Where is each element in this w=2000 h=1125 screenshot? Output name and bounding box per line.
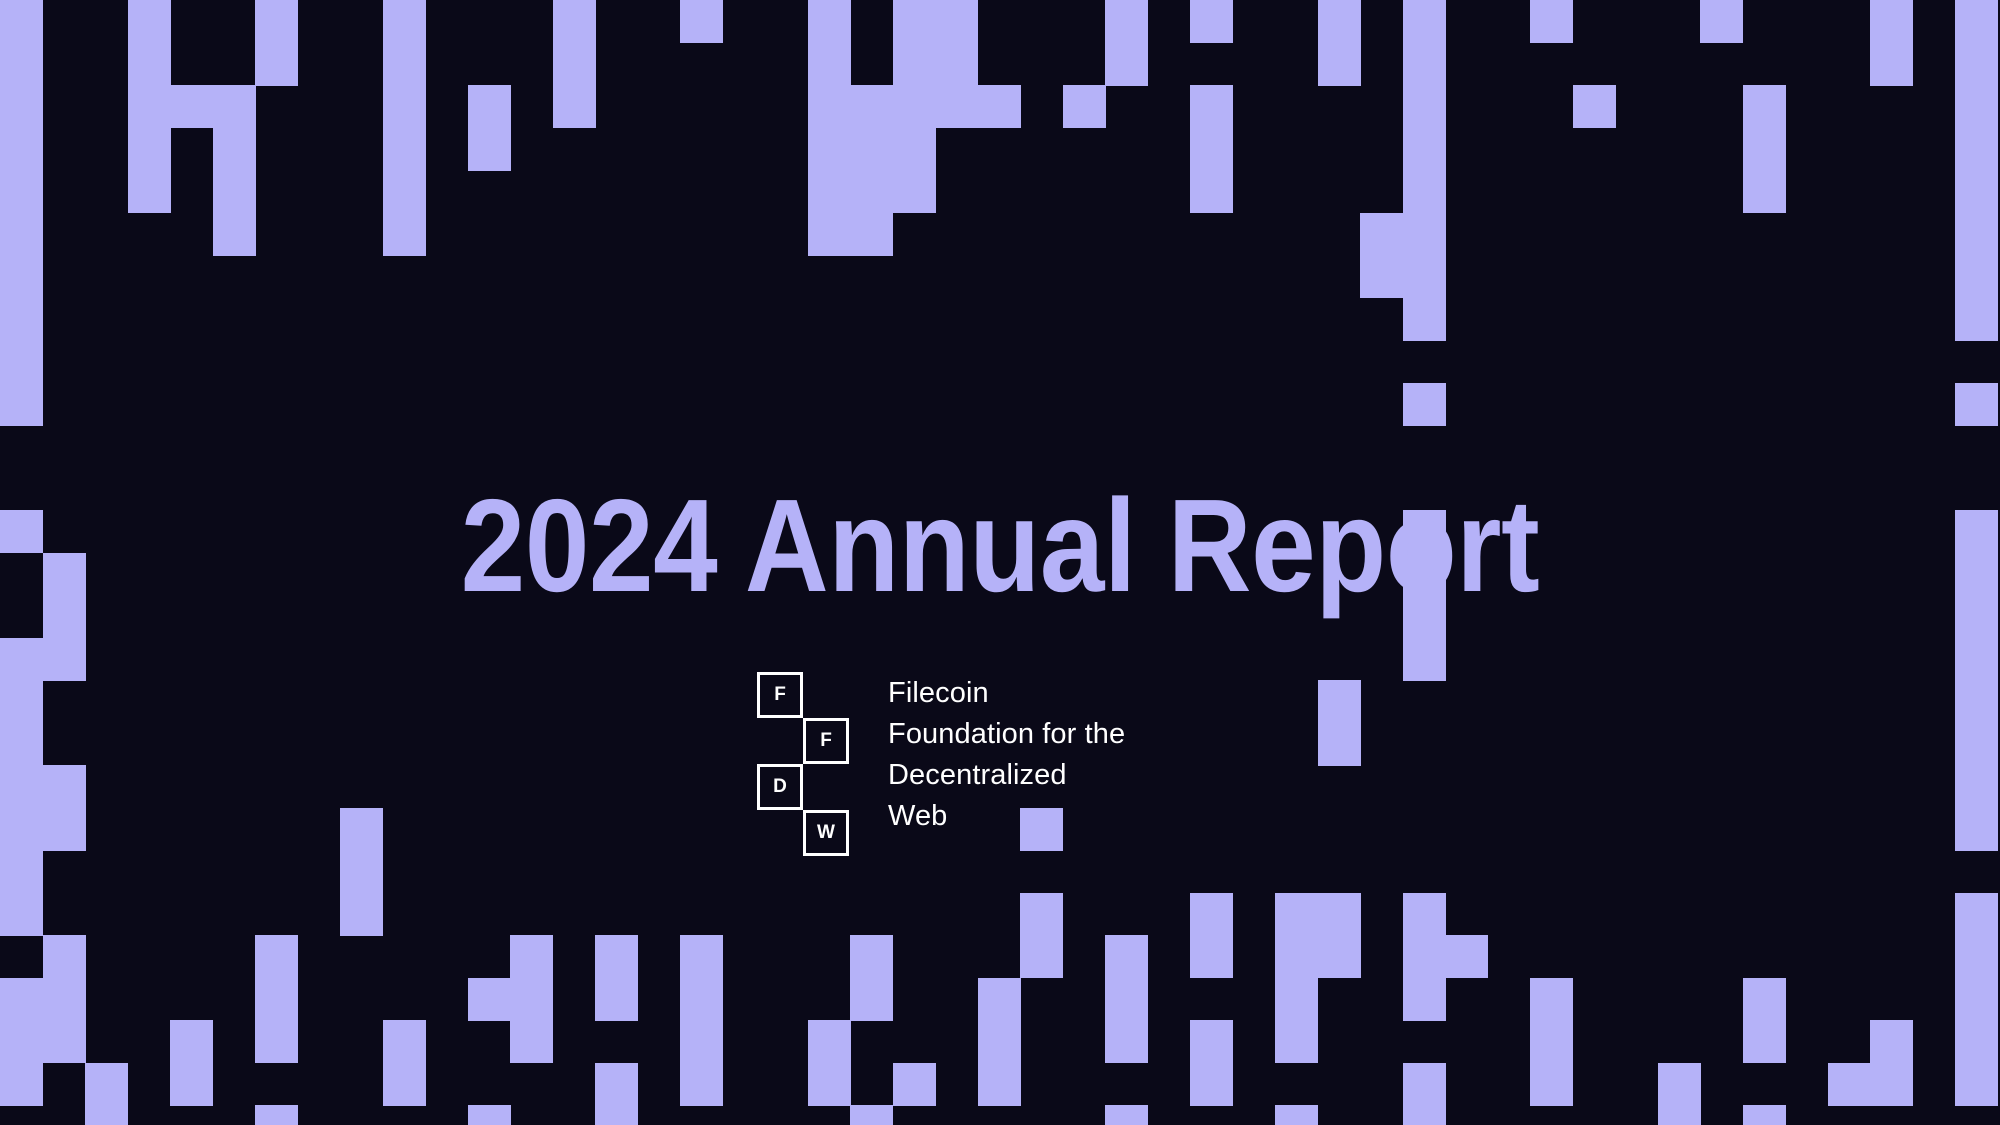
pixel-block (213, 170, 256, 213)
pixel-block (0, 383, 43, 426)
pixel-block (1105, 0, 1148, 43)
pixel-block (1955, 893, 1998, 979)
pixel-block (808, 1020, 851, 1106)
pixel-block (553, 0, 596, 43)
pixel-block (43, 638, 86, 681)
pixel-block (1870, 43, 1913, 86)
pixel-block (1445, 935, 1488, 978)
pixel-block (978, 978, 1021, 1021)
pixel-block (893, 128, 936, 171)
pixel-block (0, 893, 43, 936)
pixel-block (1190, 128, 1233, 171)
pixel-block (1658, 1063, 1701, 1125)
pixel-block (1403, 553, 1446, 639)
pixel-block (1743, 978, 1786, 1064)
pixel-block (255, 935, 298, 1063)
pixel-block (680, 978, 723, 1021)
pixel-block (128, 85, 214, 128)
pixel-block (43, 765, 86, 851)
pixel-block (383, 170, 426, 213)
pixel-block (1403, 0, 1446, 43)
pixel-block (1190, 893, 1233, 936)
pixel-block (978, 85, 1021, 128)
pixel-block (1828, 1063, 1871, 1106)
pixel-block (0, 298, 43, 384)
pixel-block (0, 638, 43, 809)
pixel-block (1955, 808, 1998, 851)
pixel-block (468, 128, 511, 171)
pixel-block (1403, 383, 1446, 426)
pixel-block (1403, 43, 1446, 86)
pixel-block (1105, 1105, 1148, 1125)
pixel-block (383, 1020, 426, 1106)
pixel-block (1743, 1105, 1786, 1125)
pixel-block (170, 1020, 213, 1106)
pixel-block (1955, 638, 1998, 681)
pixel-block (893, 43, 936, 86)
pixel-block (808, 170, 851, 213)
pixel-block (1870, 1020, 1913, 1106)
pixel-block (1403, 255, 1446, 298)
pixel-block (1403, 128, 1446, 171)
pixel-block (1955, 170, 1998, 213)
pixel-block (1743, 128, 1786, 171)
pixel-block (1403, 213, 1446, 256)
pixel-block (468, 85, 511, 128)
pixel-block (553, 85, 596, 128)
pixel-block (978, 1020, 1021, 1106)
pixel-block (808, 128, 851, 171)
pixel-block (1190, 1020, 1233, 1063)
pixel-block (1190, 935, 1233, 978)
pixel-block (0, 43, 43, 86)
pixel-block (1955, 85, 1998, 128)
pixel-block (1955, 383, 1998, 426)
pixel-block (595, 1063, 638, 1125)
pixel-block (850, 1105, 893, 1125)
pixel-block (1955, 510, 1998, 553)
pixel-block (680, 1020, 723, 1106)
pixel-block (1955, 128, 1998, 171)
pixel-block (43, 553, 86, 639)
pixel-block (1020, 808, 1063, 851)
pixel-block (1403, 1063, 1446, 1125)
pixel-block (1403, 935, 1446, 1021)
pixel-block (1403, 638, 1446, 681)
pixel-block (1318, 43, 1361, 86)
pixel-block (0, 510, 43, 553)
pixel-block (468, 1105, 511, 1125)
pixel-block (1955, 680, 1998, 723)
pixel-block (1403, 298, 1446, 341)
pixel-block (893, 170, 936, 213)
pixel-block (1530, 978, 1573, 1021)
pixel-block (1105, 43, 1148, 86)
pixel-block (0, 213, 43, 256)
pixel-block (850, 85, 893, 256)
pixel-block (383, 213, 426, 256)
pixel-block (0, 808, 43, 894)
pixel-block (255, 1105, 298, 1125)
pixel-block (1403, 170, 1446, 213)
pixel-block (128, 0, 171, 43)
pixel-block (1530, 1020, 1573, 1106)
pixel-block (893, 1063, 936, 1106)
pixel-block (808, 43, 851, 86)
pixel-block (1700, 0, 1743, 43)
pixel-block (1275, 1105, 1318, 1125)
pixel-block (510, 935, 553, 1063)
pixel-block (1360, 213, 1403, 256)
pixel-block (1955, 213, 1998, 256)
pixel-block (1105, 935, 1148, 1063)
pixel-block (1743, 170, 1786, 213)
pixel-block (43, 935, 86, 1063)
pixel-block (85, 1063, 128, 1125)
pixel-block (1190, 1063, 1233, 1106)
pixel-block (1955, 255, 1998, 298)
pixel-block (1275, 978, 1318, 1064)
pixel-block (680, 0, 723, 43)
pixel-block (1190, 170, 1233, 213)
pixel-block (1403, 85, 1446, 128)
pixel-block (1955, 978, 1998, 1106)
pixel-block (383, 43, 426, 86)
pixel-block (1403, 893, 1446, 936)
pixel-block (1318, 680, 1361, 766)
pixel-block (850, 935, 893, 1021)
pixel-block (1020, 893, 1063, 979)
pixel-block (1743, 85, 1786, 128)
pixel-block (1955, 723, 1998, 766)
pixel-block (0, 978, 43, 1106)
pixel-block (1275, 893, 1361, 979)
pixel-block (213, 213, 256, 256)
pixel-block (1870, 0, 1913, 43)
pixel-block (1955, 298, 1998, 341)
pixel-block (1530, 0, 1573, 43)
pixel-block (340, 893, 383, 936)
pixel-block (1360, 255, 1403, 298)
pixel-block (1573, 85, 1616, 128)
pixel-block (255, 0, 298, 43)
pixel-block (1063, 85, 1106, 128)
pixel-block (1403, 510, 1446, 553)
pixel-block (595, 935, 638, 1021)
pixel-block (680, 935, 723, 978)
pixel-block (0, 255, 43, 298)
cover-page: 2024 Annual Report F F D W Filecoin Foun… (0, 0, 2000, 1125)
pixel-block (468, 978, 511, 1021)
pixel-block (808, 0, 851, 43)
pixel-block (128, 170, 171, 213)
pixel-grid-background (0, 0, 2000, 1125)
pixel-block (1318, 0, 1361, 43)
pixel-block (255, 43, 298, 86)
pixel-block (128, 43, 171, 86)
pixel-block (1190, 0, 1233, 43)
pixel-block (340, 808, 383, 894)
pixel-block (1955, 553, 1998, 639)
pixel-block (553, 43, 596, 86)
